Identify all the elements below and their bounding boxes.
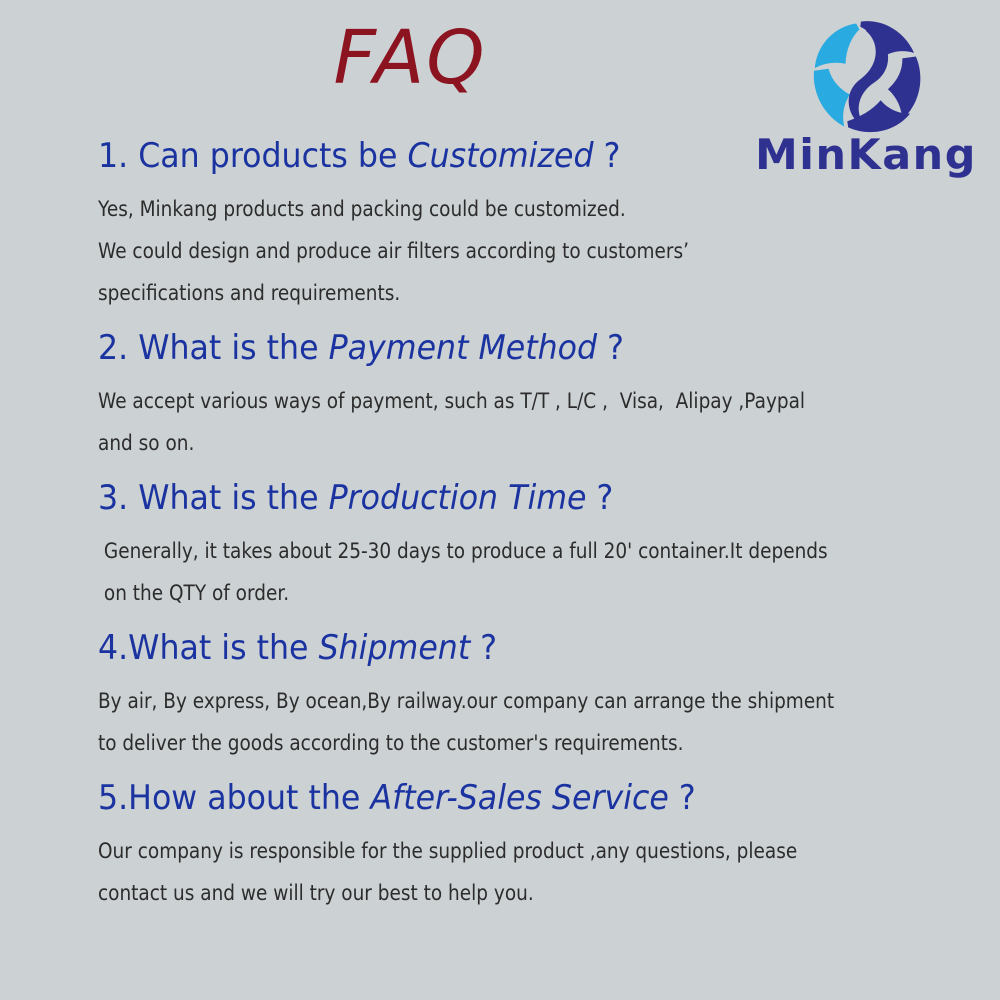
faq-question-3-number: 3. [98, 478, 138, 518]
minkang-swirl-icon [804, 14, 928, 138]
page-header: FAQ MinKang [0, 0, 1000, 122]
faq-answer-5: Our company is responsible for the suppl… [98, 830, 872, 914]
faq-question-3-tail: ? [586, 478, 613, 518]
faq-question-4-number: 4. [98, 628, 128, 668]
faq-question-5-number: 5. [98, 778, 128, 818]
faq-question-1-emphasis: Customized [407, 136, 593, 176]
faq-question-3: 3. What is the Production Time ? [98, 476, 916, 520]
faq-question-2: 2. What is the Payment Method ? [98, 326, 916, 370]
faq-question-5: 5.How about the After-Sales Service ? [98, 776, 916, 820]
faq-question-4-lead: What is the [128, 628, 318, 668]
faq-item-4: 4.What is the Shipment ? By air, By expr… [98, 626, 978, 764]
faq-answer-4: By air, By express, By ocean,By railway.… [98, 680, 872, 764]
faq-question-3-emphasis: Production Time [329, 478, 587, 518]
faq-item-3: 3. What is the Production Time ? General… [98, 476, 978, 614]
faq-question-2-lead: What is the [138, 328, 328, 368]
faq-question-5-tail: ? [669, 778, 696, 818]
faq-question-2-tail: ? [597, 328, 624, 368]
faq-question-4-tail: ? [470, 628, 497, 668]
faq-question-1-lead: Can products be [138, 136, 407, 176]
faq-answer-2: We accept various ways of payment, such … [98, 380, 872, 464]
faq-list: 1. Can products be Customized ? Yes, Min… [98, 128, 978, 914]
faq-question-4-emphasis: Shipment [319, 628, 471, 668]
faq-question-2-number: 2. [98, 328, 138, 368]
faq-question-1-number: 1. [98, 136, 138, 176]
faq-question-5-emphasis: After-Sales Service [370, 778, 668, 818]
faq-page: FAQ MinKang 1. Can products be Cu [0, 0, 1000, 1000]
faq-question-4: 4.What is the Shipment ? [98, 626, 916, 670]
faq-question-1: 1. Can products be Customized ? [98, 134, 916, 178]
faq-item-2: 2. What is the Payment Method ? We accep… [98, 326, 978, 464]
faq-item-5: 5.How about the After-Sales Service ? Ou… [98, 776, 978, 914]
faq-item-1: 1. Can products be Customized ? Yes, Min… [98, 134, 978, 314]
faq-question-2-emphasis: Payment Method [329, 328, 597, 368]
faq-answer-1: Yes, Minkang products and packing could … [98, 188, 872, 314]
faq-question-5-lead: How about the [128, 778, 370, 818]
faq-answer-3: Generally, it takes about 25-30 days to … [98, 530, 872, 614]
faq-question-1-tail: ? [594, 136, 621, 176]
faq-question-3-lead: What is the [138, 478, 328, 518]
